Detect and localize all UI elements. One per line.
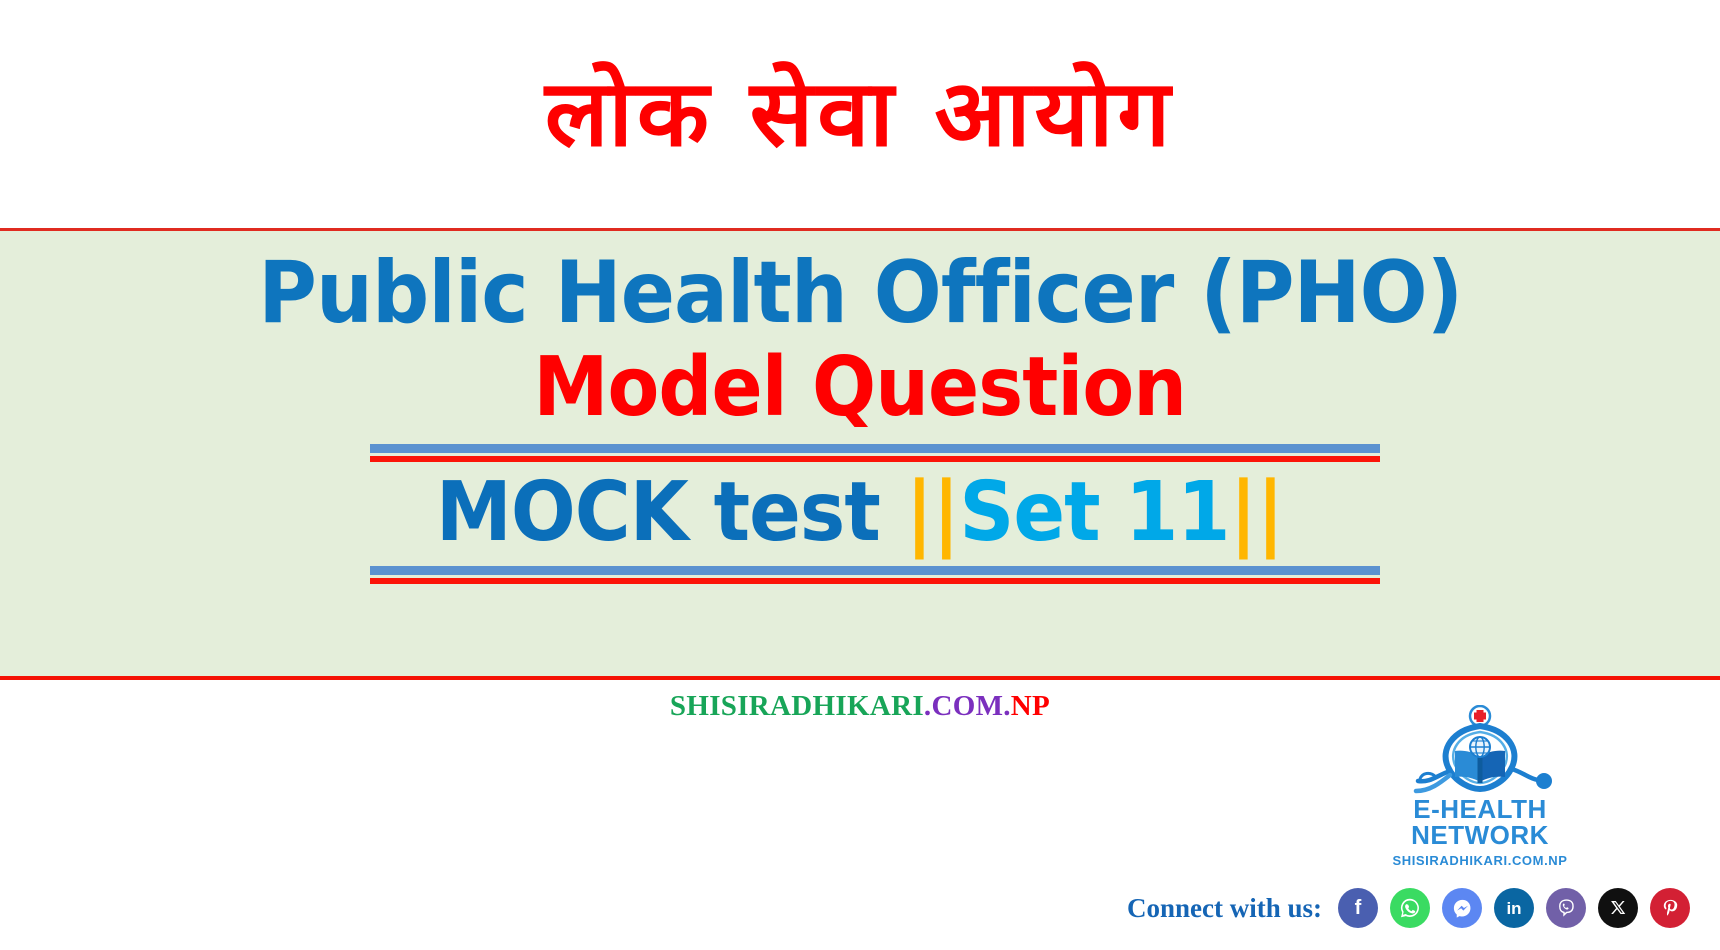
- divider-red-bar: [370, 456, 1380, 462]
- linkedin-glyph: in: [1506, 900, 1521, 917]
- messenger-glyph: [1451, 897, 1474, 920]
- banner-content: Public Health Officer (PHO) Model Questi…: [0, 231, 1720, 676]
- whatsapp-icon[interactable]: [1390, 888, 1430, 928]
- messenger-icon[interactable]: [1442, 888, 1482, 928]
- banner-mock-line: MOCK test ||Set 11||: [436, 468, 1284, 558]
- viber-glyph: [1555, 897, 1578, 920]
- divider-red-bar: [370, 578, 1380, 584]
- set-label: Set 11: [960, 465, 1230, 560]
- pinterest-glyph: [1659, 897, 1682, 920]
- facebook-icon[interactable]: f: [1338, 888, 1378, 928]
- website-tld-np: NP: [1011, 690, 1050, 722]
- pipe-left: ||: [906, 465, 960, 560]
- whatsapp-glyph: [1398, 896, 1422, 920]
- exam-banner-page: लोक सेवा आयोग Public Health Officer (PHO…: [0, 0, 1720, 950]
- connect-with-us-bar: Connect with us: f in: [0, 888, 1720, 928]
- nepali-header: लोक सेवा आयोग: [0, 0, 1720, 228]
- website-name: SHISIRADHIKARI: [670, 690, 924, 722]
- divider-top: [370, 444, 1380, 462]
- stethoscope-book-globe-icon: [1400, 705, 1560, 800]
- divider-bottom: [370, 566, 1380, 584]
- pinterest-icon[interactable]: [1650, 888, 1690, 928]
- x-twitter-glyph: [1609, 899, 1628, 918]
- banner-title-line1: Public Health Officer (PHO): [258, 247, 1462, 340]
- logo-name: E-HEALTH NETWORK: [1355, 796, 1605, 848]
- brand-logo: E-HEALTH NETWORK SHISIRADHIKARI.COM.NP: [1355, 705, 1605, 868]
- website-tld-com: .COM.: [924, 690, 1011, 722]
- linkedin-icon[interactable]: in: [1494, 888, 1534, 928]
- pipe-right: ||: [1230, 465, 1284, 560]
- divider-blue-bar: [370, 444, 1380, 453]
- facebook-glyph: f: [1355, 898, 1362, 918]
- connect-label: Connect with us:: [1127, 893, 1322, 924]
- banner-panel: Public Health Officer (PHO) Model Questi…: [0, 228, 1720, 680]
- divider-blue-bar: [370, 566, 1380, 575]
- mock-test-label: MOCK test: [436, 465, 906, 560]
- banner-title-line2: Model Question: [534, 342, 1187, 434]
- logo-subtitle: SHISIRADHIKARI.COM.NP: [1355, 853, 1605, 868]
- x-twitter-icon[interactable]: [1598, 888, 1638, 928]
- nepali-title: लोक सेवा आयोग: [545, 68, 1174, 160]
- viber-icon[interactable]: [1546, 888, 1586, 928]
